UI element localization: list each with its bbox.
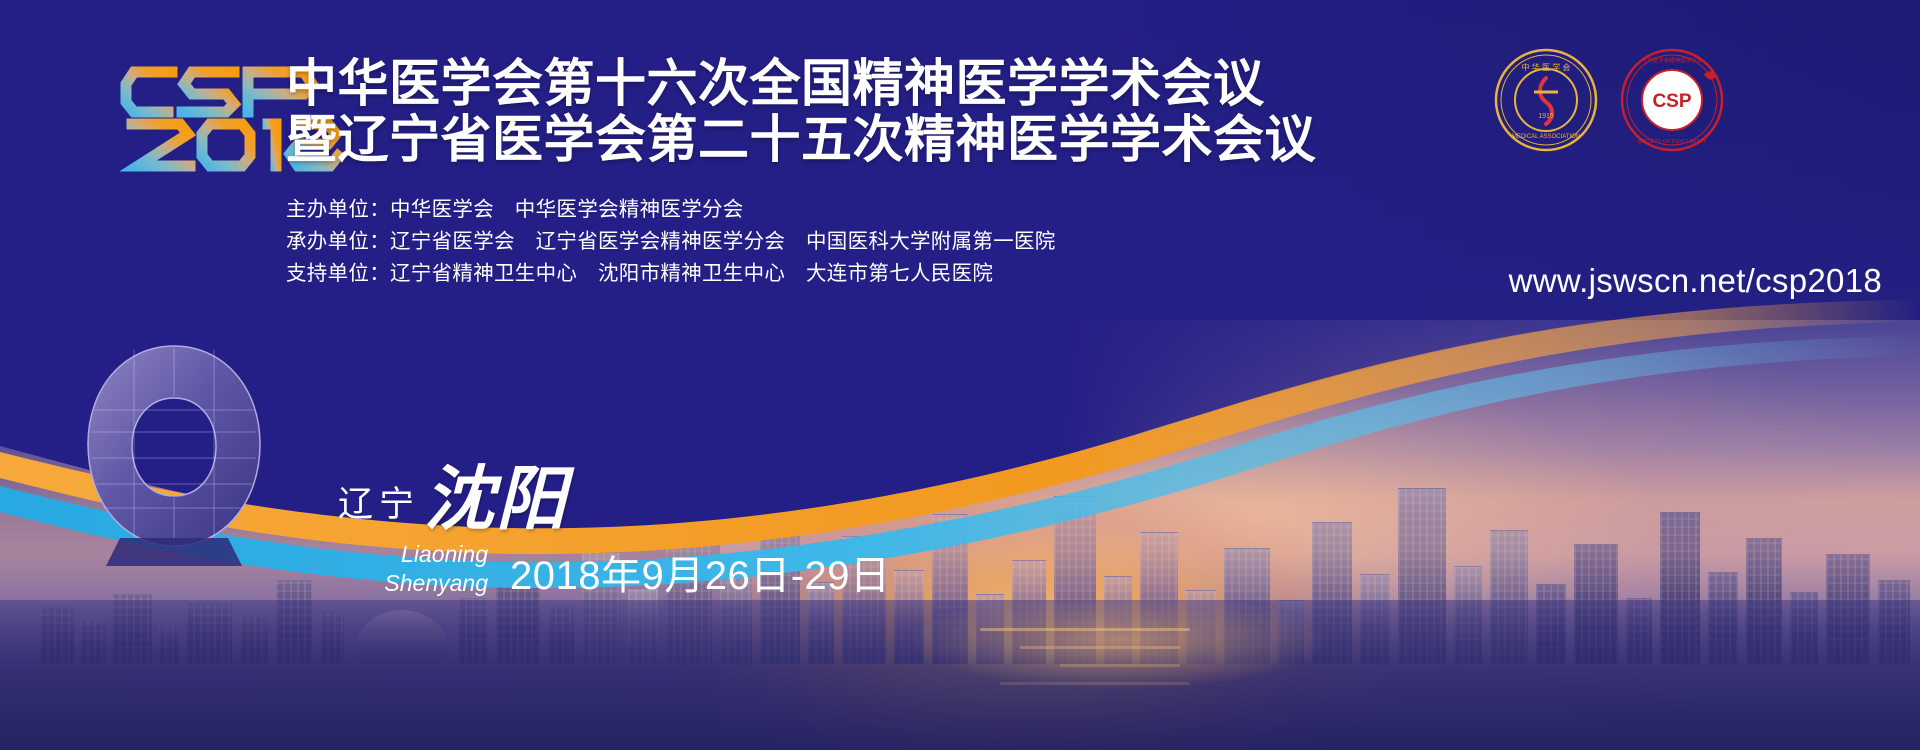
website-url[interactable]: www.jswscn.net/csp2018 xyxy=(1509,262,1882,300)
location-pinyin-province: Liaoning xyxy=(338,540,488,569)
organizer-list: 主办单位：中华医学会 中华医学会精神医学分会 承办单位：辽宁省医学会 辽宁省医学… xyxy=(286,194,1056,290)
location-city: 沈阳 xyxy=(424,466,568,536)
location-province: 辽宁 xyxy=(338,482,420,536)
conference-title: 中华医学会第十六次全国精神医学学术会议 暨辽宁省医学会第二十五次精神医学学术会议 xyxy=(286,56,1316,168)
association-emblems: 中 华 医 学 会 MEDICAL ASSOCIATION 1915 CSP 中… xyxy=(1494,48,1724,152)
organizer-supporter-line: 支持单位：辽宁省精神卫生中心 沈阳市精神卫生中心 大连市第七人民医院 xyxy=(286,258,1056,290)
organizer-host-line: 主办单位：中华医学会 中华医学会精神医学分会 xyxy=(286,194,1056,226)
title-line-1: 中华医学会第十六次全国精神医学学术会议 xyxy=(286,56,1316,112)
location-and-date: 辽宁 沈阳 Liaoning Shenyang 2018年9月26日-29日 xyxy=(338,466,891,598)
location-pinyin: Liaoning Shenyang xyxy=(338,540,488,598)
organizer-coorganizer-line: 承办单位：辽宁省医学会 辽宁省医学会精神医学分会 中国医科大学附属第一医院 xyxy=(286,226,1056,258)
conference-banner: 中华医学会第十六次全国精神医学学术会议 暨辽宁省医学会第二十五次精神医学学术会议… xyxy=(0,0,1920,750)
title-line-2: 暨辽宁省医学会第二十五次精神医学学术会议 xyxy=(286,112,1316,168)
venue-building-graphic xyxy=(74,340,274,570)
location-pinyin-city: Shenyang xyxy=(338,569,488,598)
svg-text:SOCIETY OF PSYCHIATRY: SOCIETY OF PSYCHIATRY xyxy=(1637,139,1707,145)
svg-text:中华医学会精神医学分会: 中华医学会精神医学分会 xyxy=(1642,56,1703,64)
conference-date: 2018年9月26日-29日 xyxy=(510,554,891,598)
svg-text:MEDICAL ASSOCIATION: MEDICAL ASSOCIATION xyxy=(1512,134,1580,140)
svg-text:CSP: CSP xyxy=(1652,91,1691,112)
svg-text:中 华 医 学 会: 中 华 医 学 会 xyxy=(1522,62,1571,72)
chinese-medical-association-emblem-icon: 中 华 医 学 会 MEDICAL ASSOCIATION 1915 xyxy=(1494,48,1598,152)
svg-text:1915: 1915 xyxy=(1538,113,1554,120)
chinese-society-of-psychiatry-emblem-icon: CSP 中华医学会精神医学分会 SOCIETY OF PSYCHIATRY xyxy=(1620,48,1724,152)
